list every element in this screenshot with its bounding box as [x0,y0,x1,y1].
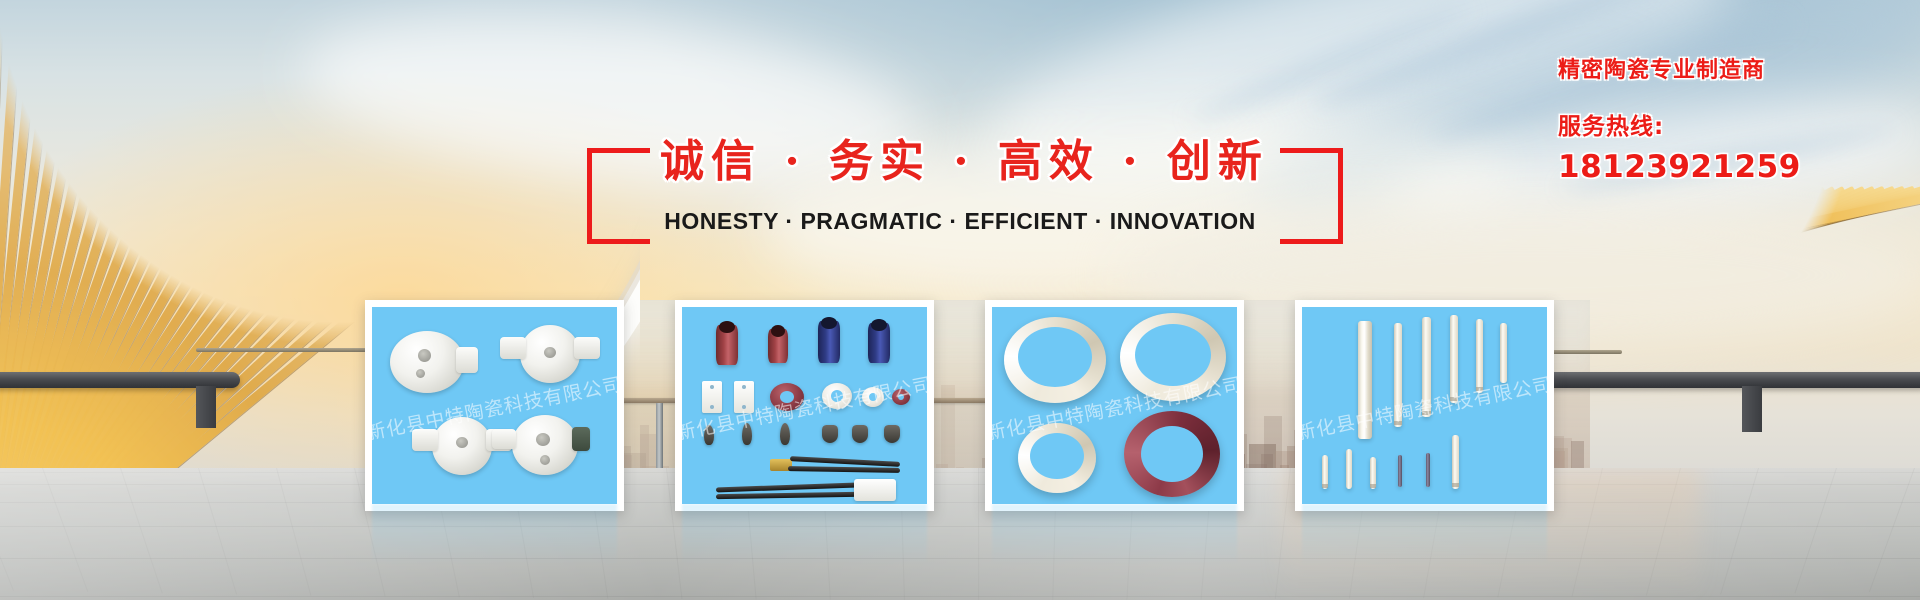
promotional-banner: 诚信 · 务实 · 高效 · 创新 HONESTY · PRAGMATIC · … [0,0,1920,600]
product-panel-rings[interactable]: 新化县中特陶瓷科技有限公司 [985,300,1244,511]
company-tagline: 精密陶瓷专业制造商 [1558,52,1898,84]
floor-tile-joint [978,468,979,600]
hotline-phone-number[interactable]: 18123921259 [1558,149,1898,185]
slogan-chinese: 诚信 · 务实 · 高效 · 创新 [660,125,1260,189]
floor-tile-joint [1720,468,1759,595]
panel-reflection [985,504,1244,566]
floor-tile-joint [120,468,163,593]
panel-reflection [1295,504,1554,566]
hotline-label: 服务热线: [1558,107,1898,141]
handrail-leg [196,386,216,428]
slogan-english: HONESTY · PRAGMATIC · EFFICIENT · INNOVA… [600,208,1320,235]
terrace-floor [0,468,1920,600]
floor-tile-joint [42,468,88,592]
contact-block: 精密陶瓷专业制造商 服务热线: 18123921259 [1558,52,1898,185]
floor-tile-joint [0,468,14,591]
floor-tile-joint [198,468,237,595]
panel-reflection [365,504,624,566]
product-panel-sleeves-terminals[interactable]: 新化县中特陶瓷科技有限公司 [675,300,934,511]
floor-tile-joint [276,468,311,596]
floor-tile-joint [1869,468,1915,592]
handrail-leg [1742,386,1762,432]
left-thin-rail [196,348,386,352]
product-panel-rods[interactable]: 新化县中特陶瓷科技有限公司 [1295,300,1554,511]
product-panel-lamp-holders[interactable]: 新化县中特陶瓷科技有限公司 [365,300,624,511]
floor-tile-joint [1794,468,1836,593]
panel-reflection [675,504,934,566]
